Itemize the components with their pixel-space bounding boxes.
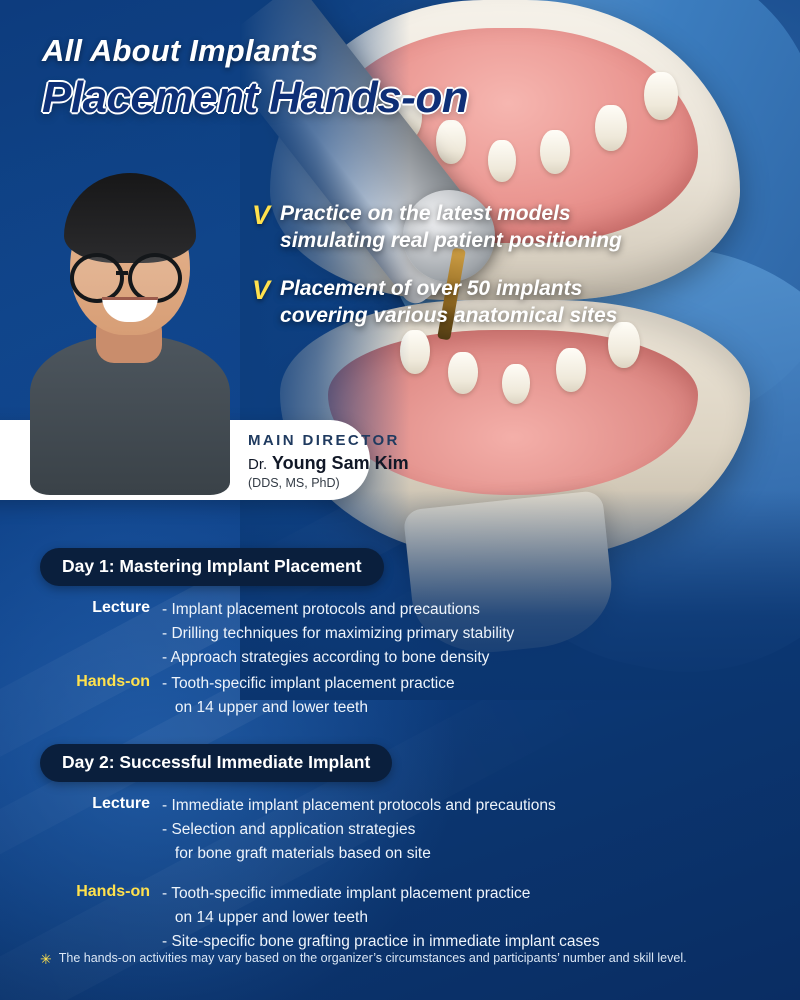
section-spacer <box>0 722 800 744</box>
program-row: Lecture - Implant placement protocols an… <box>0 598 800 670</box>
tooth <box>595 105 627 151</box>
highlights-list: V Practice on the latest models simulati… <box>252 200 672 349</box>
highlight-line-1: Placement of over 50 implants <box>280 277 582 300</box>
highlight-line-2: simulating real patient positioning <box>280 229 622 252</box>
tooth <box>540 130 570 174</box>
page-title-main: Placement Hands-on <box>42 74 468 122</box>
row-items: - Immediate implant placement protocols … <box>162 794 800 866</box>
tooth <box>502 364 530 404</box>
highlight-item: V Practice on the latest models simulati… <box>252 200 672 255</box>
hair <box>64 173 196 263</box>
footnote: ✳ The hands-on activities may vary based… <box>40 950 770 968</box>
row-label-handson: Hands-on <box>0 882 162 901</box>
program-item: - Implant placement protocols and precau… <box>162 598 800 622</box>
program-item: - Approach strategies according to bone … <box>162 646 800 670</box>
tooth <box>488 140 516 182</box>
highlight-item: V Placement of over 50 implants covering… <box>252 275 672 330</box>
poster-root: All About Implants Placement Hands-on V … <box>0 0 800 1000</box>
program-item: - Tooth-specific immediate implant place… <box>162 882 800 906</box>
row-label-lecture: Lecture <box>0 598 162 617</box>
program-item: on 14 upper and lower teeth <box>162 696 800 720</box>
row-label-handson: Hands-on <box>0 672 162 691</box>
director-full-name: Young Sam Kim <box>272 453 409 473</box>
highlight-text: Practice on the latest models simulating… <box>280 200 622 255</box>
highlight-line-2: covering various anatomical sites <box>280 304 617 327</box>
tooth <box>448 352 478 394</box>
glasses-icon <box>70 253 124 303</box>
row-items: - Implant placement protocols and precau… <box>162 598 800 670</box>
page-title-sub: All About Implants <box>42 34 468 68</box>
footnote-text: The hands-on activities may vary based o… <box>59 950 687 967</box>
day-2-rows: Lecture - Immediate implant placement pr… <box>0 794 800 954</box>
director-name: Dr. Young Sam Kim <box>248 453 409 474</box>
director-portrait <box>22 145 237 475</box>
day-1-badge: Day 1: Mastering Implant Placement <box>40 548 384 586</box>
director-role-label: MAIN DIRECTOR <box>248 432 409 449</box>
program-item: - Drilling techniques for maximizing pri… <box>162 622 800 646</box>
highlight-text: Placement of over 50 implants covering v… <box>280 275 617 330</box>
check-icon: V <box>252 277 270 304</box>
program-item: - Selection and application strategies <box>162 818 800 842</box>
row-items: - Tooth-specific immediate implant place… <box>162 882 800 954</box>
program-item: on 14 upper and lower teeth <box>162 906 800 930</box>
program-item: - Tooth-specific implant placement pract… <box>162 672 800 696</box>
day-1-block: Day 1: Mastering Implant Placement Lectu… <box>0 548 800 720</box>
day-1-rows: Lecture - Implant placement protocols an… <box>0 598 800 720</box>
day-2-block: Day 2: Successful Immediate Implant Lect… <box>0 744 800 954</box>
program-row: Hands-on - Tooth-specific implant placem… <box>0 672 800 720</box>
program-row: Lecture - Immediate implant placement pr… <box>0 794 800 866</box>
tooth <box>556 348 586 392</box>
glasses-icon <box>128 253 182 303</box>
day-2-badge: Day 2: Successful Immediate Implant <box>40 744 392 782</box>
row-items: - Tooth-specific implant placement pract… <box>162 672 800 720</box>
row-spacer <box>0 868 800 882</box>
director-honorific: Dr. <box>248 456 267 473</box>
check-icon: V <box>252 202 270 229</box>
row-label-lecture: Lecture <box>0 794 162 813</box>
director-info: MAIN DIRECTOR Dr. Young Sam Kim (DDS, MS… <box>248 432 409 490</box>
program-item: - Immediate implant placement protocols … <box>162 794 800 818</box>
program-item: for bone graft materials based on site <box>162 842 800 866</box>
program-row: Hands-on - Tooth-specific immediate impl… <box>0 882 800 954</box>
director-degrees: (DDS, MS, PhD) <box>248 476 409 490</box>
glasses-bridge <box>116 271 128 275</box>
program-schedule: Day 1: Mastering Implant Placement Lectu… <box>0 548 800 956</box>
title-block: All About Implants Placement Hands-on <box>42 34 468 122</box>
highlight-line-1: Practice on the latest models <box>280 202 571 225</box>
tooth <box>436 120 466 164</box>
tooth <box>644 72 678 120</box>
asterisk-icon: ✳ <box>40 950 52 968</box>
